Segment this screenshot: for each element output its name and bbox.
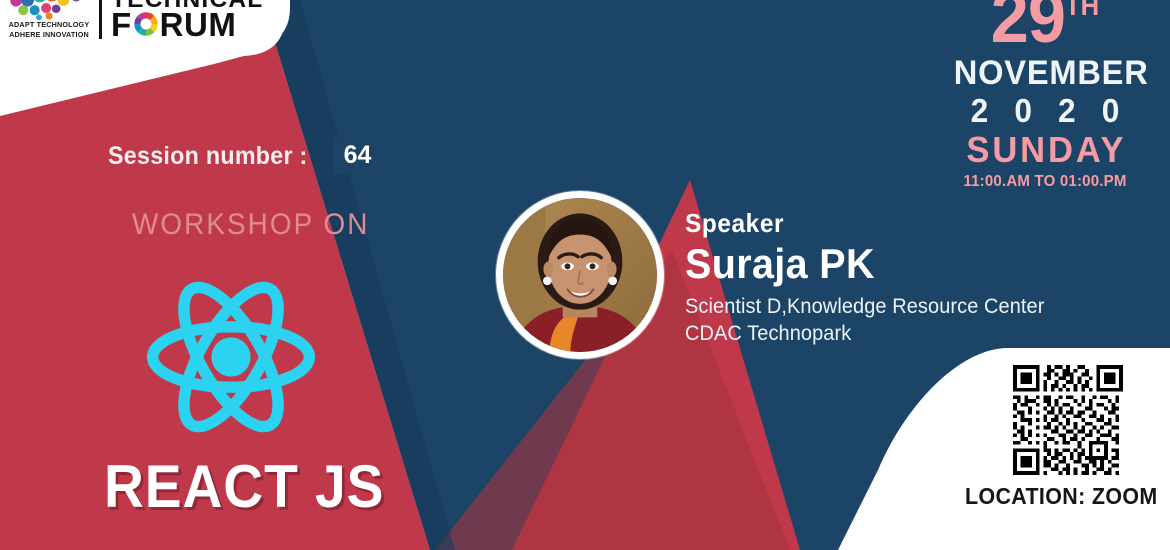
event-weekday: SUNDAY <box>954 131 1136 169</box>
event-month: NOVEMBER <box>954 55 1136 92</box>
logo-mark-group: ADAPT TECHNOLOGY ADHERE INNOVATION <box>6 0 102 39</box>
react-atom-icon <box>133 262 329 452</box>
event-day-suffix: TH <box>1065 0 1099 20</box>
event-time: 11:00.AM TO 01:00.PM <box>953 173 1137 192</box>
event-date: 29 TH NOVEMBER 2 0 2 0 SUNDAY 11:00.AM T… <box>950 0 1140 191</box>
react-nucleus <box>211 337 250 376</box>
speech-bubble-cluster-icon <box>6 0 92 20</box>
logo-forum-rum: RUM <box>160 10 237 39</box>
logo-tagline-line2: ADHERE INNOVATION <box>9 30 90 40</box>
logo-word-forum: F RUM <box>111 10 260 39</box>
speaker-role: Scientist D,Knowledge Resource Center <box>685 293 1044 321</box>
speaker-organization: CDAC Technopark <box>685 320 1044 348</box>
qr-code[interactable] <box>1013 365 1123 475</box>
venue-location: LOCATION: ZOOM <box>965 483 1158 510</box>
qr-code-icon[interactable] <box>1013 365 1123 475</box>
session-number: Session number : 64 <box>108 138 382 174</box>
logo-wordmark: TECHNICAL F RUM <box>102 0 260 39</box>
avatar <box>503 198 657 352</box>
logo-tagline-line1: ADAPT TECHNOLOGY <box>9 20 90 30</box>
event-poster: ADAPT TECHNOLOGY ADHERE INNOVATION TECHN… <box>0 0 1170 550</box>
event-day: 29 TH <box>955 0 1136 53</box>
session-number-value: 64 <box>333 138 383 174</box>
speaker-title: Speaker <box>685 208 1041 239</box>
workshop-kicker: WORKSHOP ON <box>132 208 369 242</box>
event-year: 2 0 2 0 <box>954 93 1136 130</box>
color-wheel-icon <box>133 11 159 37</box>
logo-forum-f: F <box>111 10 132 39</box>
event-day-number: 29 <box>991 0 1065 53</box>
speaker-photo <box>496 191 664 359</box>
session-number-label: Session number : <box>108 142 308 171</box>
brand-logo: ADAPT TECHNOLOGY ADHERE INNOVATION TECHN… <box>6 0 260 39</box>
speaker-name: Suraja PK <box>685 240 1041 287</box>
speaker-details: Speaker Suraja PK Scientist D,Knowledge … <box>685 208 1063 348</box>
logo-word-technical: TECHNICAL <box>111 0 263 10</box>
logo-tagline: ADAPT TECHNOLOGY ADHERE INNOVATION <box>9 20 90 39</box>
workshop-topic: REACT JS <box>104 457 384 517</box>
